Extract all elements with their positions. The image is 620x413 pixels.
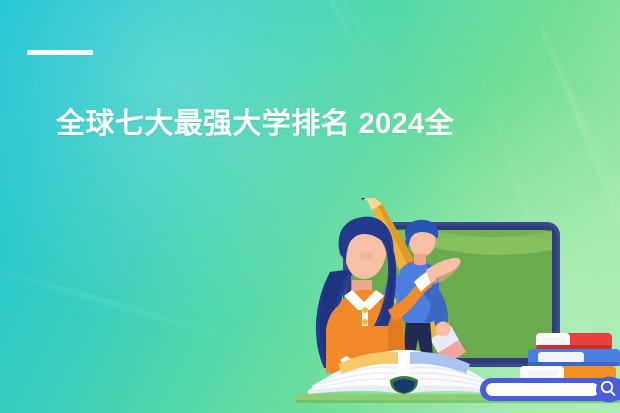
education-learning-illustration (296, 198, 620, 413)
page-title: 全球七大最强大学排名 2024全 (56, 106, 616, 142)
decorative-rule (27, 50, 93, 55)
search-bar (480, 377, 620, 403)
promo-card: 全球七大最强大学排名 2024全 (0, 0, 620, 413)
book-top (536, 333, 612, 349)
woman-button-bottom (362, 319, 368, 325)
search-input (486, 383, 599, 396)
book-middle (528, 349, 620, 366)
boy-hand-lower (436, 322, 451, 337)
woman-button-top (362, 307, 368, 313)
